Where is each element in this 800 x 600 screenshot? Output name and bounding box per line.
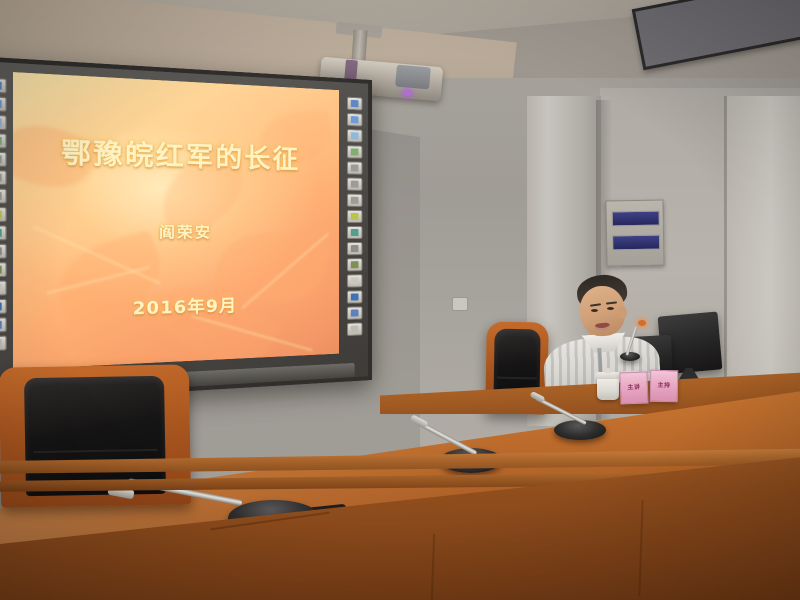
whiteboard-spotlight-icon[interactable]	[0, 207, 6, 222]
panel-strip-bottom-icon	[612, 235, 660, 251]
whiteboard-spotlight-icon[interactable]	[346, 210, 362, 223]
whiteboard-keyboard-icon[interactable]	[346, 242, 362, 255]
whiteboard-display-icon[interactable]	[0, 317, 6, 333]
presenter-ear	[618, 306, 627, 319]
highlighter-icon	[0, 100, 1, 109]
gooseneck-mic-presenter-base	[620, 352, 640, 361]
whiteboard-keyboard-icon[interactable]	[0, 244, 6, 259]
keyboard-icon	[350, 245, 358, 252]
undo-icon	[350, 164, 358, 171]
help-icon	[350, 326, 358, 333]
capture-icon	[0, 229, 1, 237]
whiteboard-display-icon[interactable]	[346, 306, 362, 320]
spotlight-icon	[0, 210, 1, 218]
help-icon	[0, 339, 1, 347]
cursor-icon	[350, 197, 358, 204]
cursor-icon	[0, 192, 1, 200]
whiteboard-capture-icon[interactable]	[0, 225, 6, 240]
redo-icon	[0, 173, 1, 181]
spotlight-icon	[350, 213, 358, 220]
whiteboard-left-toolbar[interactable]	[0, 77, 7, 351]
power-icon	[0, 302, 1, 310]
slide-author: 阎荣安	[13, 221, 339, 244]
whiteboard-blank-icon[interactable]	[346, 274, 362, 287]
tea-cup-lid	[595, 372, 621, 379]
chair-upholstery	[24, 376, 167, 496]
power-icon	[350, 293, 358, 300]
whiteboard-page-icon[interactable]	[0, 262, 6, 277]
projection-surface[interactable]: 鄂豫皖红军的长征 阎荣安 2016年9月	[13, 72, 339, 370]
whiteboard-redo-icon[interactable]	[346, 177, 362, 190]
whiteboard-undo-icon[interactable]	[0, 151, 6, 166]
presenter-eye	[591, 309, 598, 312]
display-icon	[350, 309, 358, 316]
whiteboard-power-icon[interactable]	[0, 299, 6, 315]
whiteboard-power-icon[interactable]	[346, 290, 362, 304]
whiteboard-undo-icon[interactable]	[346, 161, 362, 174]
panel-strip-top-icon	[612, 211, 660, 227]
whiteboard-highlighter-icon[interactable]	[346, 113, 362, 127]
capture-icon	[350, 229, 358, 236]
tea-cup	[597, 376, 619, 400]
name-placard-label: 主持	[651, 380, 677, 389]
whiteboard-help-icon[interactable]	[346, 322, 362, 336]
gooseneck-mic-presenter-capsule-icon	[638, 320, 646, 326]
eraser-icon	[350, 132, 358, 139]
whiteboard-right-toolbar[interactable]	[346, 97, 362, 336]
whiteboard-pen-icon[interactable]	[0, 77, 6, 93]
projector-power-led-icon	[404, 90, 411, 96]
keyboard-icon	[0, 247, 1, 255]
blank-icon	[350, 277, 358, 284]
interactive-whiteboard[interactable]: 鄂豫皖红军的长征 阎荣安 2016年9月	[0, 56, 372, 404]
whiteboard-blank-icon[interactable]	[0, 280, 6, 295]
pen-icon	[0, 81, 1, 90]
whiteboard-page-icon[interactable]	[346, 258, 362, 271]
whiteboard-capture-icon[interactable]	[346, 226, 362, 239]
whiteboard-shapes-icon[interactable]	[346, 145, 362, 159]
shapes-icon	[350, 148, 358, 155]
page-icon	[350, 261, 358, 268]
name-placard: 主讲	[619, 372, 648, 405]
whiteboard-redo-icon[interactable]	[0, 170, 6, 185]
whiteboard-highlighter-icon[interactable]	[0, 96, 6, 112]
whiteboard-cursor-icon[interactable]	[346, 194, 362, 207]
eraser-icon	[0, 118, 1, 126]
whiteboard-eraser-icon[interactable]	[346, 129, 362, 143]
av-control-panel[interactable]	[605, 199, 664, 266]
whiteboard-eraser-icon[interactable]	[0, 114, 6, 130]
pen-icon	[350, 100, 358, 107]
whiteboard-pen-icon[interactable]	[346, 97, 362, 111]
shapes-icon	[0, 137, 1, 145]
projector-vent-icon	[395, 65, 431, 90]
highlighter-icon	[350, 116, 358, 123]
redo-icon	[350, 181, 358, 188]
display-icon	[0, 321, 1, 329]
conference-room-photo: 鄂豫皖红军的长征 阎荣安 2016年9月	[0, 0, 800, 600]
tea-cup-knob	[605, 368, 611, 373]
wall-outlet[interactable]	[452, 297, 468, 311]
whiteboard-cursor-icon[interactable]	[0, 188, 6, 203]
undo-icon	[0, 155, 1, 163]
whiteboard-help-icon[interactable]	[0, 336, 6, 352]
name-placard: 主持	[650, 370, 679, 402]
whiteboard-shapes-icon[interactable]	[0, 133, 6, 149]
blank-icon	[0, 284, 1, 292]
name-placard-label: 主讲	[621, 382, 647, 392]
presenter-eye	[607, 307, 614, 310]
page-icon	[0, 266, 1, 274]
